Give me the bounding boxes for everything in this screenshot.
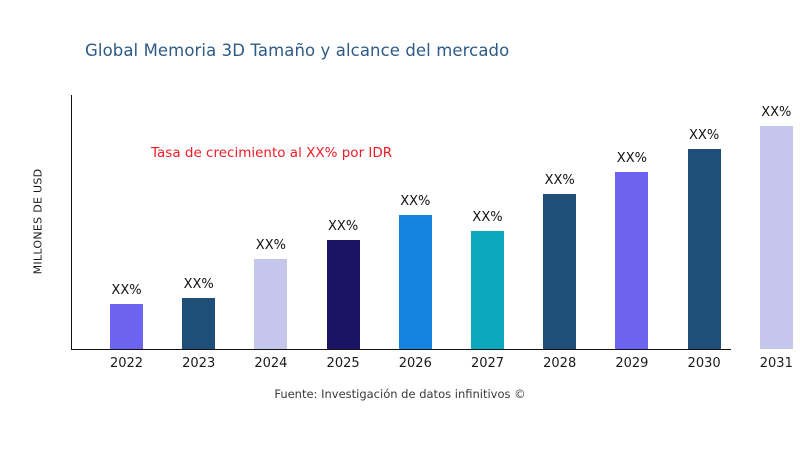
- x-axis-tick-2025: 2025: [327, 356, 360, 371]
- x-axis-tick-2027: 2027: [471, 356, 504, 371]
- bar-value-label-2031: XX%: [761, 105, 791, 120]
- x-axis-tick-2029: 2029: [615, 356, 648, 371]
- x-axis-tick-2024: 2024: [254, 356, 287, 371]
- chart-container: Global Memoria 3D Tamaño y alcance del m…: [0, 0, 800, 450]
- bar-2022[interactable]: [110, 304, 143, 349]
- bar-value-label-2025: XX%: [328, 219, 358, 234]
- x-axis-tick-2026: 2026: [399, 356, 432, 371]
- bar-2031[interactable]: [760, 126, 793, 349]
- x-axis-tick-2028: 2028: [543, 356, 576, 371]
- x-axis-tick-2023: 2023: [182, 356, 215, 371]
- bar-value-label-2022: XX%: [111, 283, 141, 298]
- bar-value-label-2026: XX%: [400, 194, 430, 209]
- growth-rate-annotation: Tasa de crecimiento al XX% por IDR: [151, 145, 392, 161]
- bar-2028[interactable]: [543, 194, 576, 349]
- bar-value-label-2030: XX%: [689, 128, 719, 143]
- bar-2025[interactable]: [327, 240, 360, 349]
- bar-2024[interactable]: [254, 259, 287, 349]
- x-axis-tick-2031: 2031: [760, 356, 793, 371]
- x-axis-tick-2030: 2030: [688, 356, 721, 371]
- y-axis-line: [71, 95, 72, 350]
- bar-2023[interactable]: [182, 298, 215, 349]
- x-axis-line: [71, 349, 731, 350]
- bar-value-label-2023: XX%: [184, 277, 214, 292]
- source-note: Fuente: Investigación de datos infinitiv…: [0, 387, 800, 401]
- y-axis-label: MILLONES DE USD: [32, 122, 45, 322]
- bar-2029[interactable]: [615, 172, 648, 349]
- bar-2026[interactable]: [399, 215, 432, 349]
- x-axis-tick-2022: 2022: [110, 356, 143, 371]
- bar-value-label-2024: XX%: [256, 238, 286, 253]
- bar-2027[interactable]: [471, 231, 504, 349]
- bar-value-label-2027: XX%: [472, 210, 502, 225]
- bar-2030[interactable]: [688, 149, 721, 349]
- bar-value-label-2029: XX%: [617, 151, 647, 166]
- bar-value-label-2028: XX%: [545, 173, 575, 188]
- page-title: Global Memoria 3D Tamaño y alcance del m…: [85, 41, 509, 60]
